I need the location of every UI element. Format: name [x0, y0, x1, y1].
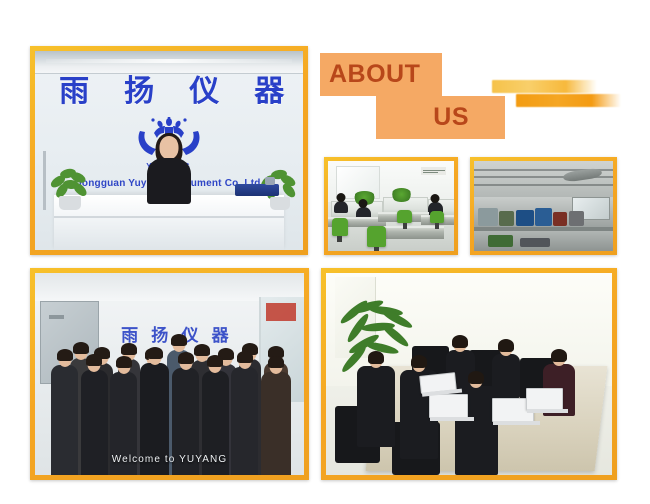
meeting-room-photo: [326, 273, 612, 475]
workshop-ceiling: [474, 161, 613, 197]
reception-staff: [146, 136, 192, 202]
workshop-photo-frame[interactable]: [470, 157, 617, 255]
decoration-bar-bottom: [516, 94, 621, 107]
heading-about-text: ABOUT: [329, 60, 420, 89]
heading-decoration: [492, 80, 622, 110]
workshop-machine: [535, 208, 552, 226]
laptop: [526, 388, 562, 410]
office-chair: [430, 211, 444, 224]
staff-body: [147, 158, 191, 204]
team-wall-banner: [266, 303, 296, 321]
team-group-photo: 雨 扬 仪 器: [35, 273, 304, 475]
meeting-photo-frame[interactable]: [321, 268, 617, 480]
workshop-machine: [499, 211, 514, 225]
plant-leaves: [48, 163, 92, 199]
laptop: [429, 394, 468, 418]
team-photo-caption: Welcome to YUYANG: [35, 454, 304, 465]
workshop-machine: [478, 208, 497, 226]
staff-head: [160, 136, 179, 159]
workshop-machine: [516, 210, 534, 226]
plant-pot: [270, 197, 290, 210]
office-chair: [397, 210, 412, 224]
workshop-machine: [553, 212, 567, 226]
heading-us-text: US: [433, 103, 469, 132]
workshop-machine: [520, 238, 551, 248]
meeting-attendee: [357, 366, 394, 447]
workshop-rail: [474, 227, 613, 231]
hanzi-3: 仪: [189, 77, 219, 107]
office-photo-frame[interactable]: [324, 157, 458, 255]
hanzi-1: 雨: [59, 77, 89, 107]
reception-photo-frame[interactable]: 雨 扬 仪 器: [30, 46, 308, 255]
workshop-machine: [569, 211, 584, 226]
reception-plant-left: [48, 164, 92, 210]
office-chair: [367, 226, 386, 248]
decoration-bar-top: [492, 80, 597, 93]
factory-workshop-photo: [474, 161, 613, 251]
document-papers: [420, 372, 458, 394]
office-wall-notice: [421, 167, 446, 175]
reception-desk-object: [235, 184, 279, 196]
hanzi-2: 扬: [124, 77, 154, 107]
reception-photo: 雨 扬 仪 器: [35, 51, 303, 250]
office-worker: [334, 201, 348, 214]
reception-wall-hanzi: 雨 扬 仪 器: [59, 77, 284, 107]
hanzi-4: 器: [254, 77, 284, 107]
office-cubicles-photo: [328, 161, 454, 251]
about-us-banner: 雨 扬 仪 器: [0, 0, 650, 504]
reception-ceiling: [35, 51, 303, 74]
heading-about-block: ABOUT: [320, 53, 442, 96]
office-chair: [332, 218, 348, 236]
plant-pot: [59, 196, 81, 210]
heading-us-block: US: [376, 96, 505, 139]
team-photo-frame[interactable]: 雨 扬 仪 器: [30, 268, 309, 480]
workshop-machine: [488, 235, 513, 248]
